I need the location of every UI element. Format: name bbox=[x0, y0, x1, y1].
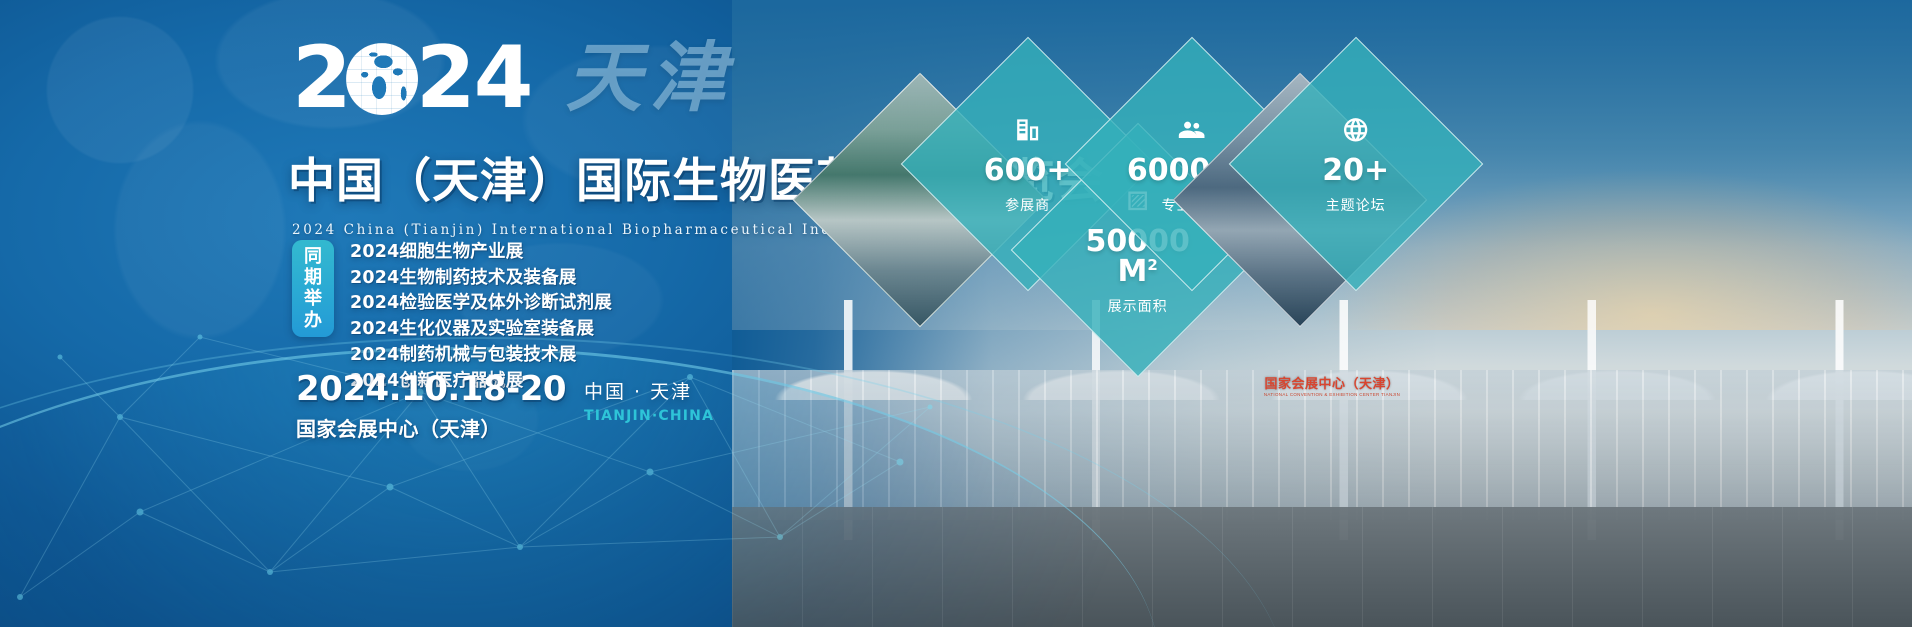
venue-signage: 国家会展中心（天津） NATIONAL CONVENTION & EXHIBIT… bbox=[1258, 372, 1406, 402]
event-location-group: 中国 · 天津 TIANJIN·CHINA bbox=[584, 377, 714, 424]
stats-diamond-group: 600+ 参展商 50000 M2 展示面积 60000+ 专业观众 bbox=[830, 60, 1450, 340]
stat-value-forums: 20+ bbox=[1281, 156, 1431, 186]
tianjin-calligraphy: 天津 bbox=[566, 40, 734, 116]
stat-label-forums: 主题论坛 bbox=[1281, 199, 1431, 213]
banner-left-content: 2 24 天津 中国（天津）国际生物医药产业博览会 2024 China (Ti… bbox=[0, 0, 960, 627]
list-item: 2024细胞生物产业展 bbox=[350, 240, 612, 266]
concurrent-badge: 同 期 举 办 bbox=[292, 240, 334, 337]
badge-char-2: 期 bbox=[304, 267, 322, 288]
list-item: 2024生化仪器及实验室装备展 bbox=[350, 317, 612, 343]
badge-char-1: 同 bbox=[304, 246, 322, 267]
event-banner: 国家会展中心（天津） NATIONAL CONVENTION & EXHIBIT… bbox=[0, 0, 1912, 627]
year-digits-24: 24 bbox=[416, 38, 532, 120]
event-venue: 国家会展中心（天津） bbox=[296, 413, 566, 442]
date-venue-group: 2024.10.18-20 国家会展中心（天津） bbox=[296, 372, 566, 442]
badge-char-4: 办 bbox=[304, 310, 322, 331]
list-item: 2024检验医学及体外诊断试剂展 bbox=[350, 291, 612, 317]
venue-sign-en: NATIONAL CONVENTION & EXHIBITION CENTER … bbox=[1264, 393, 1400, 398]
event-date: 2024.10.18-20 bbox=[296, 372, 566, 408]
venue-sign-cn: 国家会展中心（天津） bbox=[1264, 377, 1399, 390]
globe-forum-icon bbox=[1281, 116, 1431, 146]
exhibitor-booth-icon bbox=[953, 116, 1103, 146]
year-text: 2 24 bbox=[292, 38, 532, 120]
event-date-venue-block: 2024.10.18-20 国家会展中心（天津） 中国 · 天津 TIANJIN… bbox=[296, 372, 714, 442]
event-location-en: TIANJIN·CHINA bbox=[584, 408, 714, 424]
year-logo: 2 24 天津 bbox=[292, 38, 734, 120]
stat-label-area: 展示面积 bbox=[1063, 300, 1213, 314]
year-digit-2: 2 bbox=[292, 38, 350, 120]
list-item: 2024生物制药技术及装备展 bbox=[350, 266, 612, 292]
event-location-cn: 中国 · 天津 bbox=[584, 377, 714, 404]
globe-icon bbox=[346, 43, 418, 115]
list-item: 2024制药机械与包装技术展 bbox=[350, 343, 612, 369]
badge-char-3: 举 bbox=[304, 288, 322, 309]
